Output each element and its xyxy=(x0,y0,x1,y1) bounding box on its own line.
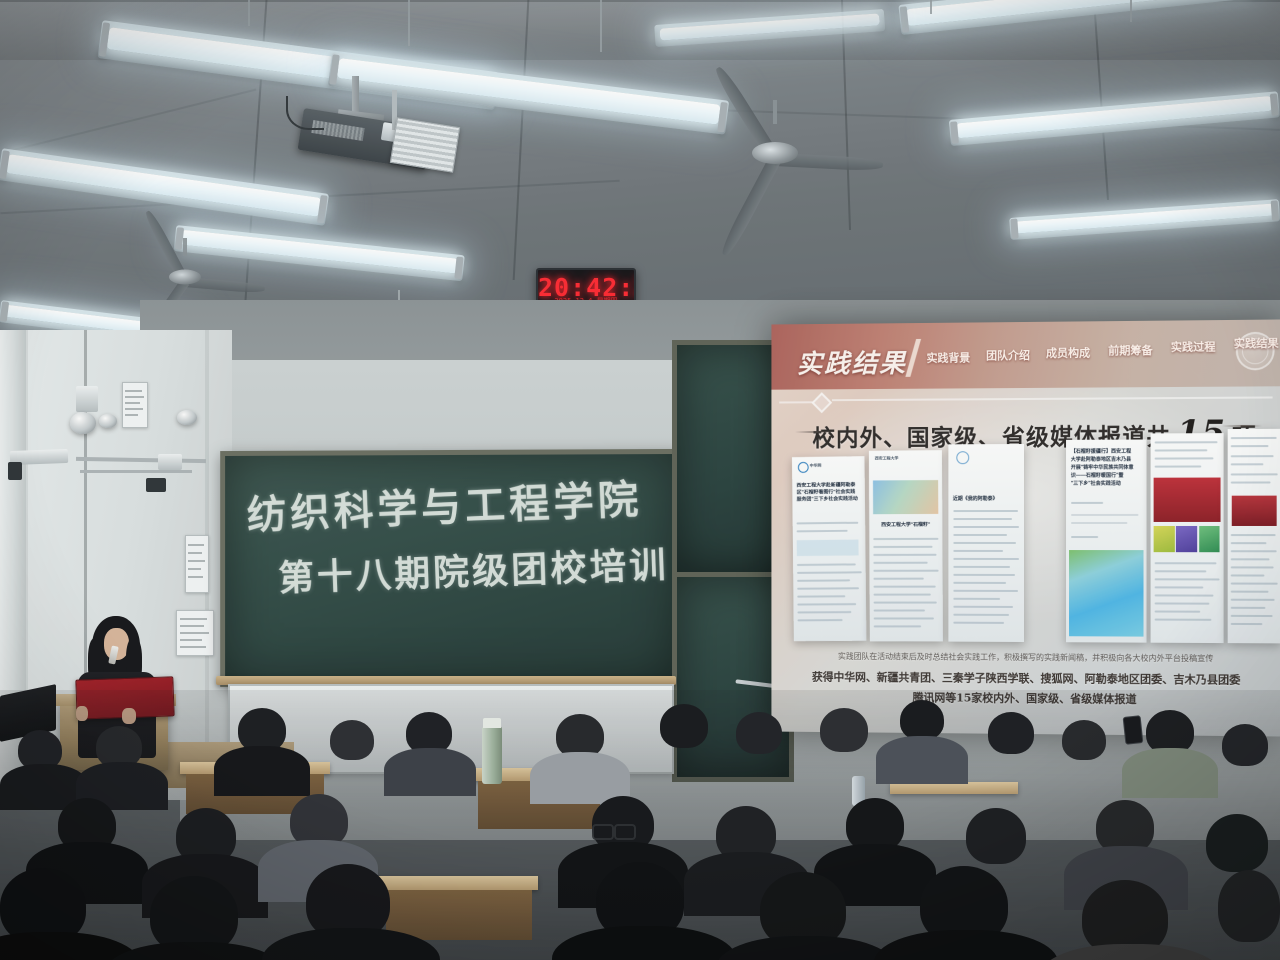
article-card[interactable]: 【石榴籽援疆行】西安工程 大学赴阿勒泰地区吉木乃县 开展"铸牢中华民族共同体意 … xyxy=(1066,439,1147,642)
slide-nav-item-5[interactable]: 实践结果 xyxy=(1234,335,1279,352)
article-card[interactable]: 近期《我的阿勒泰》 xyxy=(948,444,1024,642)
camera-lens xyxy=(8,462,22,480)
card-title: 近期《我的阿勒泰》 xyxy=(953,496,1020,503)
slide-nav-item-4[interactable]: 实践过程 xyxy=(1171,338,1216,355)
card-title: 西安工程大学"石榴籽" xyxy=(874,522,938,529)
lecture-hall-photo: 20:42:24 2025 12 4 星期四 纺织科学与工程学院 第十八期院 xyxy=(0,0,1280,960)
slide-nav-item-2[interactable]: 成员构成 xyxy=(1046,344,1090,360)
thermos-bottle xyxy=(482,726,502,784)
audience-shoulder xyxy=(1122,748,1218,798)
blackboard-left: 纺织科学与工程学院 第十八期院级团校培训 xyxy=(220,449,682,689)
audience-head xyxy=(1222,724,1268,766)
card-head: 西安工程大学 xyxy=(875,455,899,461)
card-image xyxy=(1199,526,1220,552)
audience xyxy=(0,690,1280,960)
camera-arm xyxy=(80,470,192,473)
ceiling-fan xyxy=(95,252,275,302)
card-image xyxy=(1153,478,1220,522)
audience-head xyxy=(330,720,374,760)
camera-lens xyxy=(146,478,166,492)
wall-speaker xyxy=(177,410,197,425)
audience-head xyxy=(1218,870,1280,942)
audience-head xyxy=(966,808,1026,864)
slide-nav-item-0[interactable]: 实践背景 xyxy=(927,349,971,365)
bottle-cap xyxy=(483,718,501,728)
audience-head xyxy=(988,712,1034,754)
audience-head xyxy=(820,708,868,752)
desk xyxy=(378,876,538,890)
eyeglasses xyxy=(592,824,614,840)
audience-shoulder xyxy=(214,746,310,796)
audience-shoulder xyxy=(384,748,476,796)
slide-footnote-line-2: 获得中华网、新疆共青团、三秦学子陕西学联、搜狐网、阿勒泰地区团委、吉木乃县团委 xyxy=(801,668,1251,688)
slide-header-title: 实践结果 xyxy=(797,343,907,381)
card-head: 中华网 xyxy=(810,463,822,469)
ceiling-vent xyxy=(390,117,460,172)
slide-nav-item-3[interactable]: 前期筹备 xyxy=(1108,342,1152,358)
ceiling-fan xyxy=(650,118,900,188)
card-image xyxy=(1153,526,1174,552)
eyeglasses xyxy=(614,824,636,840)
audience-head xyxy=(1062,720,1106,760)
desk-front xyxy=(386,890,532,940)
audience-head xyxy=(900,700,944,740)
audience-shoulder xyxy=(876,736,968,784)
notice-board xyxy=(176,610,214,656)
notice-board xyxy=(185,535,209,593)
media-logo-icon xyxy=(956,451,969,464)
blackboard-line-1: 纺织科学与工程学院 xyxy=(246,467,644,541)
card-image xyxy=(1176,526,1197,552)
notice-board xyxy=(122,382,148,428)
card-title: 西安工程大学赴新疆阿勒泰 区"石榴籽看图行"社会实践 服务团"三下乡社会实践活动 xyxy=(797,482,861,504)
projection-screen: 实践结果 实践背景 团队介绍 成员构成 前期筹备 实践过程 实践结果 校内外、国… xyxy=(771,319,1280,736)
card-image xyxy=(1069,550,1143,637)
wall-speaker xyxy=(99,414,117,428)
slide-nav-item-1[interactable]: 团队介绍 xyxy=(986,347,1030,363)
article-card[interactable]: 中华网 西安工程大学赴新疆阿勒泰 区"石榴籽看图行"社会实践 服务团"三下乡社会… xyxy=(792,456,866,641)
media-logo-icon xyxy=(798,462,809,473)
audience-head xyxy=(1206,814,1268,872)
audience-head xyxy=(736,712,782,754)
card-image xyxy=(873,480,937,514)
blackboard-line-2: 第十八期院级团校培训 xyxy=(277,536,669,602)
card-title: 【石榴籽援疆行】西安工程 大学赴阿勒泰地区吉木乃县 开展"铸牢中华民族共同体意 … xyxy=(1071,448,1142,488)
smartphone xyxy=(1123,715,1144,745)
audience-head xyxy=(660,704,708,748)
camera-housing xyxy=(158,454,182,470)
card-image xyxy=(1232,496,1277,526)
article-card[interactable] xyxy=(1151,433,1224,643)
article-card[interactable]: 西安工程大学 西安工程大学"石榴籽" xyxy=(869,450,943,641)
article-card[interactable] xyxy=(1228,429,1280,644)
